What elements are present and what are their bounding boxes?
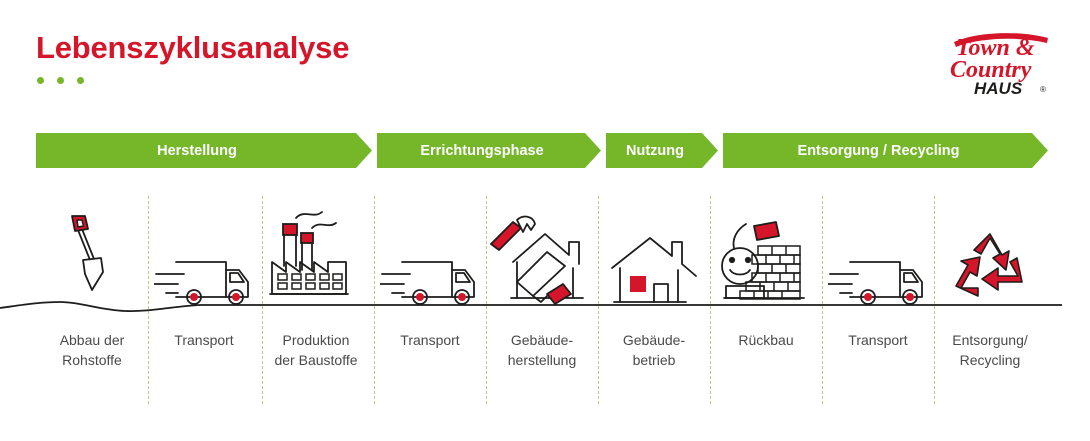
logo-graphic: Town & Country HAUS ® <box>948 26 1056 100</box>
phase-banner-label: Entsorgung / Recycling <box>798 143 960 159</box>
truck-icon <box>822 202 934 310</box>
stage-produktion-der-baustoffe: Produktion der Baustoffe <box>260 196 372 406</box>
stage-transport-1: Transport <box>148 196 260 406</box>
phase-banner-label: Nutzung <box>626 143 684 159</box>
recycling-icon <box>934 202 1046 310</box>
stage-caption: Transport <box>816 330 940 350</box>
factory-icon <box>260 202 372 310</box>
phase-banner-label: Errichtungsphase <box>420 143 543 159</box>
stage-abbau-der-rohstoffe: Abbau der Rohstoffe <box>36 196 148 406</box>
decorative-dot <box>57 77 64 84</box>
phase-banner-herstellung[interactable]: Herstellung <box>36 133 372 168</box>
decorative-dot <box>37 77 44 84</box>
stage-caption-line1: Gebäude- <box>623 332 685 348</box>
stage-caption: Transport <box>142 330 266 350</box>
shovel-icon <box>36 202 148 310</box>
house-build-icon <box>486 202 598 310</box>
stage-caption-line2: herstellung <box>480 350 604 370</box>
logo-line3: HAUS <box>974 79 1023 98</box>
stage-transport-2: Transport <box>374 196 486 406</box>
stage-caption-line2: der Baustoffe <box>254 350 378 370</box>
stage-caption: Abbau der Rohstoffe <box>30 330 154 370</box>
truck-icon <box>374 202 486 310</box>
stage-caption-line2: Rohstoffe <box>30 350 154 370</box>
stage-caption-line1: Rückbau <box>738 332 793 348</box>
stage-caption-line1: Abbau der <box>60 332 125 348</box>
stage-caption: Produktion der Baustoffe <box>254 330 378 370</box>
phase-banner-nutzung[interactable]: Nutzung <box>606 133 718 168</box>
stage-caption: Gebäude- herstellung <box>480 330 604 370</box>
hammer-sub-icon <box>491 217 535 250</box>
stage-caption: Transport <box>368 330 492 350</box>
page-title: Lebenszyklusanalyse <box>36 30 349 66</box>
stage-caption-line1: Transport <box>400 332 459 348</box>
town-and-country-haus-logo: Town & Country HAUS ® <box>948 26 1056 100</box>
house-icon <box>598 202 710 310</box>
stage-caption-line1: Transport <box>848 332 907 348</box>
stage-caption-line2: betrieb <box>592 350 716 370</box>
stage-caption-line1: Produktion <box>283 332 350 348</box>
stage-gebaeudebetrieb: Gebäude- betrieb <box>598 196 710 406</box>
stage-caption: Rückbau <box>704 330 828 350</box>
stage-gebaeudeherstellung: Gebäude- herstellung <box>486 196 598 406</box>
stage-caption-line1: Gebäude- <box>511 332 573 348</box>
stage-entsorgung-recycling: Entsorgung/ Recycling <box>934 196 1046 406</box>
stage-caption: Gebäude- betrieb <box>592 330 716 370</box>
stage-transport-3: Transport <box>822 196 934 406</box>
stage-caption-line1: Entsorgung/ <box>952 332 1028 348</box>
stage-rueckbau: Rückbau <box>710 196 822 406</box>
truck-icon <box>148 202 260 310</box>
paint-roller-sub-icon <box>517 252 571 304</box>
phase-banner-errichtungsphase[interactable]: Errichtungsphase <box>377 133 601 168</box>
decorative-dot <box>77 77 84 84</box>
stage-caption-line2: Recycling <box>928 350 1052 370</box>
wrecking-ball-icon <box>710 202 822 310</box>
stage-caption-line1: Transport <box>174 332 233 348</box>
phase-banner-label: Herstellung <box>157 143 237 159</box>
logo-trademark: ® <box>1040 85 1046 94</box>
stage-caption: Entsorgung/ Recycling <box>928 330 1052 370</box>
lifecycle-infographic: Lebenszyklusanalyse Town & Country HAUS … <box>0 0 1090 441</box>
phase-banner-entsorgung-recycling[interactable]: Entsorgung / Recycling <box>723 133 1048 168</box>
title-dot-decoration <box>37 77 84 84</box>
